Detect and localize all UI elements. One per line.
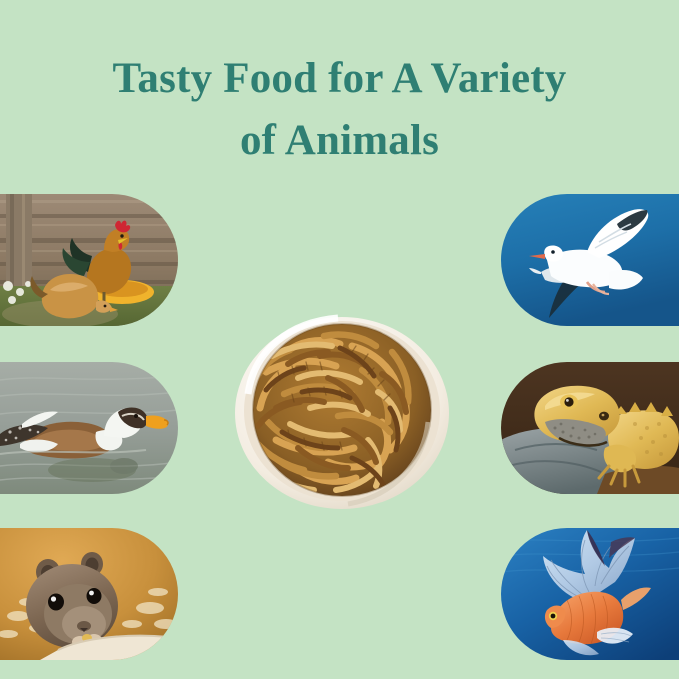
bearded-dragon-photo [501,362,679,494]
page-title: Tasty Food for A Variety of Animals [0,48,679,173]
page-title-line-1: Tasty Food for A Variety [0,48,679,110]
betta-fish-photo [501,528,679,660]
page-title-line-2: of Animals [0,110,679,172]
hamster-photo [0,528,178,660]
chicken-photo [0,194,178,326]
poster-canvas: Tasty Food for A Variety of Animals [0,0,679,679]
duck-photo [0,362,178,494]
seagull-photo [501,194,679,326]
mealworm-bowl [232,312,453,512]
